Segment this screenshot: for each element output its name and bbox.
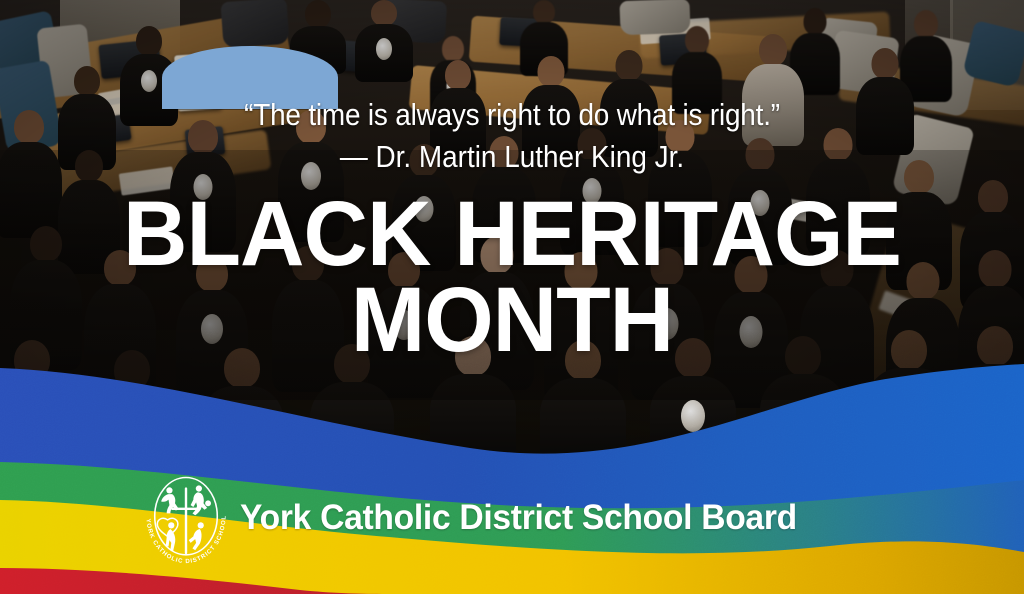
footer-brand-block: YORK CATHOLIC DISTRICT SCHOOL BOARD York… bbox=[0, 468, 1024, 568]
wordmark-text: York Catholic District School Board bbox=[240, 498, 797, 538]
black-heritage-month-banner: “The time is always right to do what is … bbox=[0, 0, 1024, 594]
crest-ring-text: YORK CATHOLIC DISTRICT SCHOOL BOARD bbox=[140, 468, 228, 565]
york-catholic-crest-icon: YORK CATHOLIC DISTRICT SCHOOL BOARD bbox=[140, 468, 232, 568]
semicircle-table-shape bbox=[162, 46, 338, 109]
